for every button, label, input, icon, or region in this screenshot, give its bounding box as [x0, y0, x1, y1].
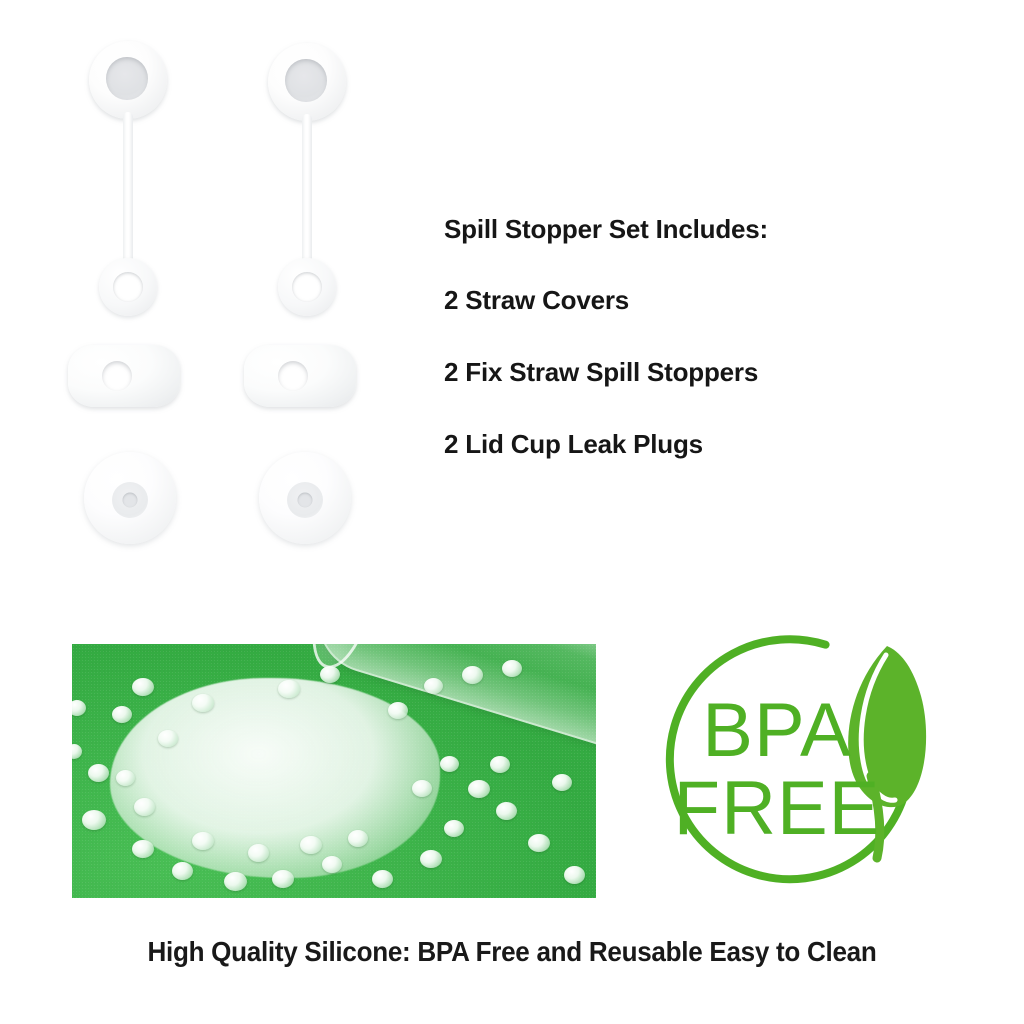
- silicone-pellet: [348, 830, 368, 847]
- silicone-pellet: [88, 764, 109, 782]
- spec-item-straw-covers: 2 Straw Covers: [444, 285, 964, 316]
- bpa-text-line1: BPA: [702, 688, 851, 773]
- silicone-pellet: [248, 844, 269, 862]
- silicone-pellet: [192, 832, 214, 850]
- silicone-pellet: [372, 870, 393, 888]
- silicone-pellet: [424, 678, 443, 694]
- silicone-pellet: [224, 872, 247, 891]
- silicone-pellet: [496, 802, 517, 820]
- silicone-pellet: [300, 836, 322, 854]
- silicone-pellet: [320, 666, 340, 683]
- silicone-pellet: [322, 856, 342, 873]
- fix-straw-spill-stopper-left: [68, 345, 180, 407]
- silicone-pellet: [278, 680, 300, 698]
- silicone-pellet: [272, 870, 294, 888]
- spec-heading: Spill Stopper Set Includes:: [444, 214, 964, 245]
- silicone-pellet: [412, 780, 432, 797]
- silicone-pellet: [116, 770, 135, 786]
- spec-item-fix-straw-stoppers: 2 Fix Straw Spill Stoppers: [444, 357, 964, 388]
- straw-cover-strap: [123, 112, 133, 264]
- silicone-pellet: [490, 756, 510, 773]
- silicone-pellet: [552, 774, 572, 791]
- silicone-pellet: [134, 798, 155, 816]
- spill-stopper-set-spec-list: Spill Stopper Set Includes: 2 Straw Cove…: [444, 214, 964, 501]
- silicone-pellet: [112, 706, 132, 723]
- bpa-text-line2: FREE: [674, 766, 881, 851]
- straw-cover-ring: [99, 258, 157, 316]
- fix-straw-spill-stopper-right: [244, 345, 356, 407]
- straw-cover-ring: [278, 258, 336, 316]
- silicone-pellet: [132, 840, 154, 858]
- silicone-pellet: [462, 666, 483, 684]
- silicone-pellet: [158, 730, 178, 747]
- silicone-pellet: [132, 678, 154, 696]
- straw-cover-cap: [268, 43, 346, 121]
- silicone-pellet: [444, 820, 464, 837]
- straw-cover-cap: [89, 41, 167, 119]
- lid-cup-leak-plug-right: [259, 452, 351, 544]
- silicone-pellet: [468, 780, 490, 798]
- silicone-pellet: [420, 850, 442, 868]
- lid-cup-leak-plug-left: [84, 452, 176, 544]
- silicone-pellet: [388, 702, 408, 719]
- silicone-pellet: [564, 866, 585, 884]
- bpa-free-badge: BPA FREE: [655, 628, 955, 904]
- product-infographic: Spill Stopper Set Includes: 2 Straw Cove…: [0, 0, 1024, 1024]
- product-parts-photo: [0, 0, 430, 600]
- silicone-pellet: [172, 862, 193, 880]
- silicone-pellet: [502, 660, 522, 677]
- silicone-pellet: [192, 694, 214, 712]
- silicone-pellet: [82, 810, 106, 830]
- silicone-pellet: [440, 756, 459, 772]
- silicone-pellet: [528, 834, 550, 852]
- silicone-pellets-photo: [72, 644, 596, 898]
- bottom-caption: High Quality Silicone: BPA Free and Reus…: [36, 936, 988, 968]
- spec-item-lid-cup-leak-plugs: 2 Lid Cup Leak Plugs: [444, 429, 964, 460]
- straw-cover-strap: [302, 114, 312, 264]
